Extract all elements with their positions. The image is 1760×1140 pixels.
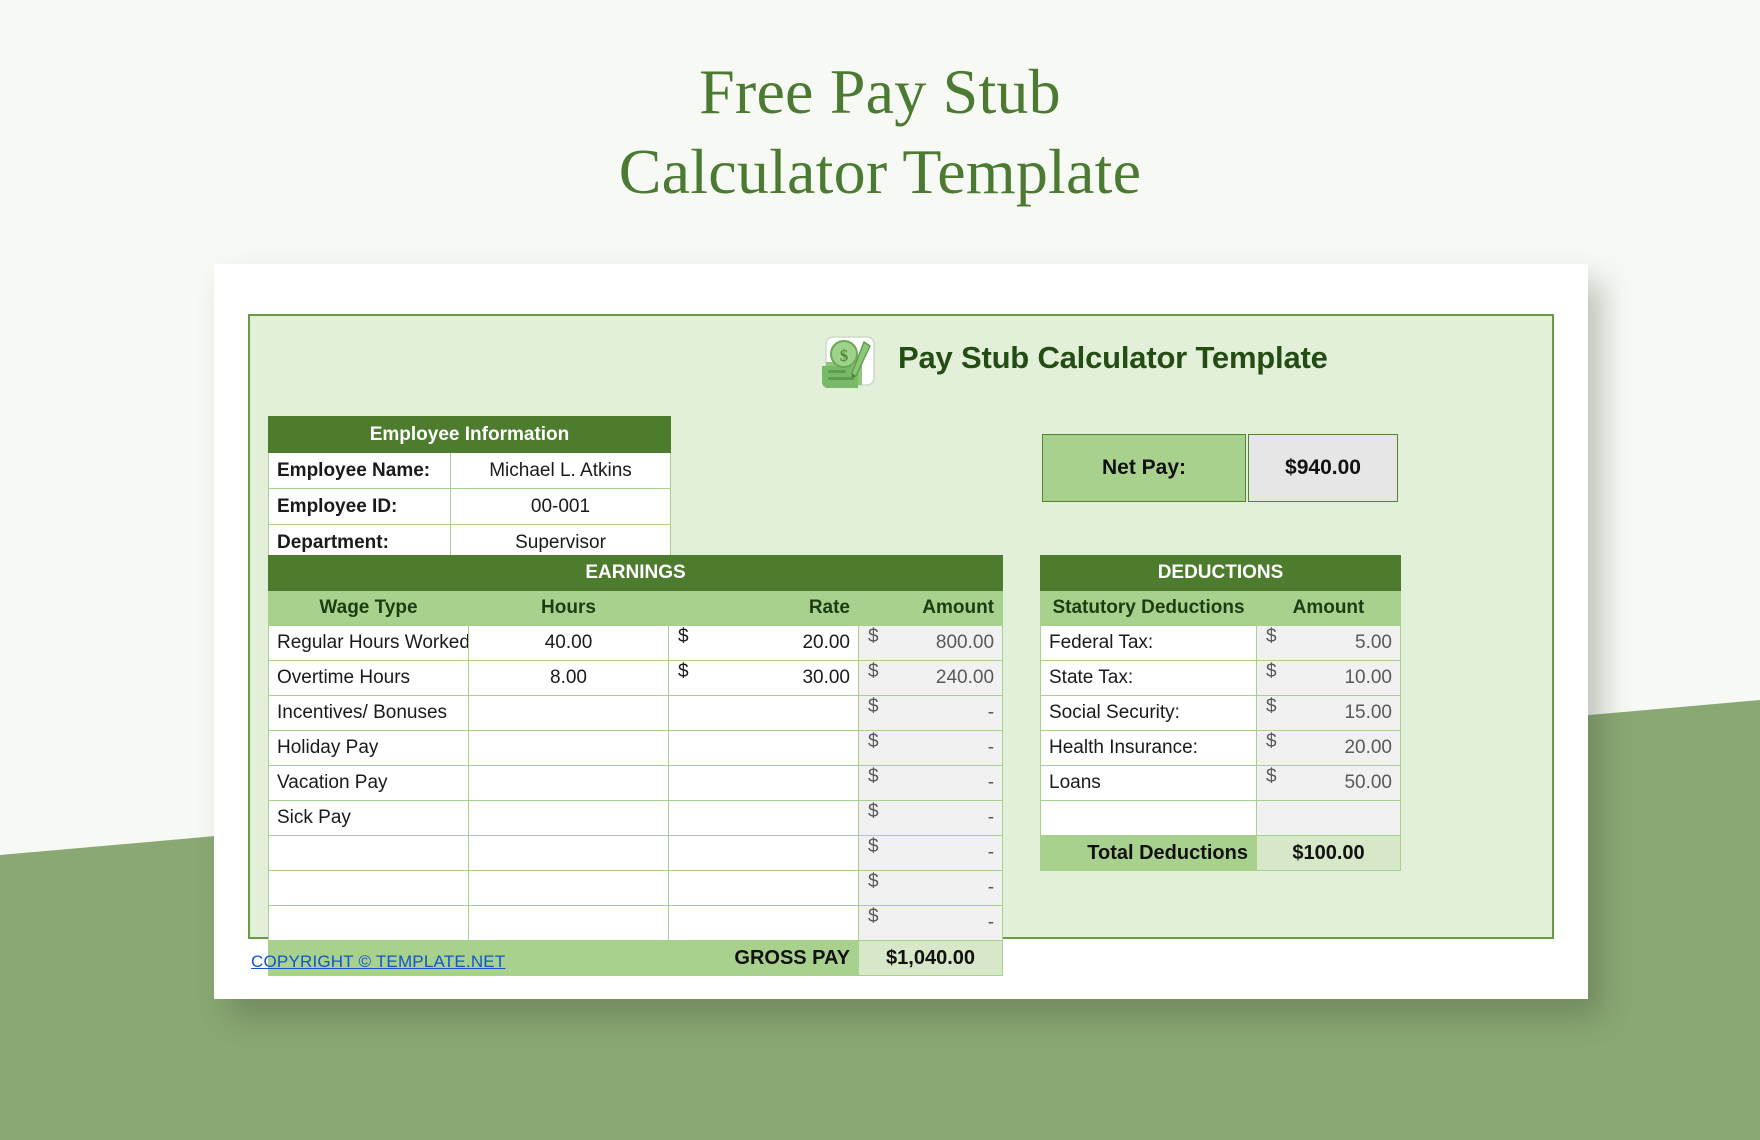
currency-symbol: $: [1266, 626, 1277, 648]
earnings-hours[interactable]: [469, 801, 669, 836]
earnings-amount-value: -: [988, 702, 994, 723]
earnings-wage-type[interactable]: Incentives/ Bonuses: [269, 696, 469, 731]
earnings-amount: $-: [859, 836, 1003, 871]
deduction-label[interactable]: [1041, 801, 1257, 836]
table-row: Social Security: $15.00: [1041, 696, 1401, 731]
table-row: Health Insurance: $20.00: [1041, 731, 1401, 766]
earnings-hours[interactable]: 8.00: [469, 661, 669, 696]
earnings-hours[interactable]: [469, 766, 669, 801]
table-row: [1041, 801, 1401, 836]
earnings-amount-value: -: [988, 807, 994, 828]
deduction-amount-value: 10.00: [1344, 667, 1392, 688]
table-row: $-: [269, 871, 1003, 906]
currency-symbol: $: [678, 626, 689, 648]
currency-symbol: $: [1266, 766, 1277, 788]
deduction-amount-value: 5.00: [1355, 632, 1392, 653]
earnings-amount-value: -: [988, 737, 994, 758]
deduction-amount[interactable]: [1257, 801, 1401, 836]
earnings-hours[interactable]: [469, 696, 669, 731]
earnings-amount: $-: [859, 766, 1003, 801]
page-title-line-1: Free Pay Stub: [0, 52, 1760, 132]
table-row: Employee ID: 00-001: [269, 489, 671, 525]
earnings-amount-value: -: [988, 772, 994, 793]
deduction-label: State Tax:: [1041, 661, 1257, 696]
earnings-rate-value: 20.00: [802, 632, 850, 653]
earnings-wage-type[interactable]: [269, 906, 469, 941]
earnings-amount: $-: [859, 696, 1003, 731]
table-header-row: Employee Information: [269, 417, 671, 453]
currency-symbol: $: [1266, 696, 1277, 718]
table-column-header-row: Wage Type Hours Rate Amount: [269, 591, 1003, 626]
deductions-table: DEDUCTIONS Statutory Deductions Amount F…: [1040, 555, 1401, 871]
employee-name-label: Employee Name:: [269, 453, 451, 489]
earnings-hours[interactable]: [469, 871, 669, 906]
table-row: Employee Name: Michael L. Atkins: [269, 453, 671, 489]
table-header-row: DEDUCTIONS: [1041, 556, 1401, 591]
net-pay-row: Net Pay: $940.00: [1042, 434, 1398, 502]
deduction-amount[interactable]: $20.00: [1257, 731, 1401, 766]
earnings-wage-type[interactable]: Holiday Pay: [269, 731, 469, 766]
table-row: Loans $50.00: [1041, 766, 1401, 801]
spreadsheet-panel: $ Pay Stub Calculator Template Employee …: [248, 314, 1554, 939]
deduction-label: Health Insurance:: [1041, 731, 1257, 766]
deductions-header: DEDUCTIONS: [1041, 556, 1401, 591]
deduction-amount-value: 50.00: [1344, 772, 1392, 793]
earnings-rate[interactable]: [669, 871, 859, 906]
currency-symbol: $: [1266, 661, 1277, 683]
table-column-header-row: Statutory Deductions Amount: [1041, 591, 1401, 626]
earnings-amount: $-: [859, 801, 1003, 836]
earnings-rate[interactable]: $20.00: [669, 626, 859, 661]
earnings-wage-type[interactable]: Overtime Hours: [269, 661, 469, 696]
gross-pay-value: $1,040.00: [859, 941, 1003, 976]
table-row: Sick Pay $-: [269, 801, 1003, 836]
currency-symbol: $: [868, 836, 879, 858]
sheet-header: $ Pay Stub Calculator Template: [250, 324, 1552, 394]
table-row: $-: [269, 836, 1003, 871]
earnings-wage-type[interactable]: Regular Hours Worked: [269, 626, 469, 661]
deduction-amount[interactable]: $5.00: [1257, 626, 1401, 661]
currency-symbol: $: [678, 661, 689, 683]
net-pay-value: $940.00: [1248, 434, 1398, 502]
earnings-hours[interactable]: [469, 731, 669, 766]
svg-text:$: $: [840, 346, 849, 365]
earnings-rate[interactable]: [669, 801, 859, 836]
earnings-amount-value: 800.00: [936, 632, 994, 653]
earnings-amount-value: -: [988, 842, 994, 863]
deduction-amount-value: 15.00: [1344, 702, 1392, 723]
earnings-amount: $800.00: [859, 626, 1003, 661]
earnings-wage-type[interactable]: [269, 871, 469, 906]
column-header-hours: Hours: [469, 591, 669, 626]
employee-information-header: Employee Information: [269, 417, 671, 453]
currency-symbol: $: [868, 801, 879, 823]
table-row: Incentives/ Bonuses $-: [269, 696, 1003, 731]
currency-symbol: $: [868, 696, 879, 718]
employee-name-value[interactable]: Michael L. Atkins: [451, 453, 671, 489]
column-header-rate: Rate: [669, 591, 859, 626]
employee-id-value[interactable]: 00-001: [451, 489, 671, 525]
column-header-amount: Amount: [859, 591, 1003, 626]
earnings-amount-value: -: [988, 877, 994, 898]
currency-symbol: $: [868, 906, 879, 928]
earnings-amount: $240.00: [859, 661, 1003, 696]
net-pay-label: Net Pay:: [1042, 434, 1246, 502]
column-header-deduction-amount: Amount: [1257, 591, 1401, 626]
earnings-wage-type[interactable]: [269, 836, 469, 871]
deduction-amount[interactable]: $10.00: [1257, 661, 1401, 696]
currency-symbol: $: [868, 766, 879, 788]
earnings-rate-value: 30.00: [802, 667, 850, 688]
currency-symbol: $: [868, 626, 879, 648]
currency-symbol: $: [868, 731, 879, 753]
earnings-amount: $-: [859, 871, 1003, 906]
earnings-table: EARNINGS Wage Type Hours Rate Amount Reg…: [268, 555, 1003, 976]
employee-id-label: Employee ID:: [269, 489, 451, 525]
net-pay-box: Net Pay: $940.00: [1040, 432, 1400, 504]
earnings-amount-value: 240.00: [936, 667, 994, 688]
earnings-amount-value: -: [988, 912, 994, 933]
sheet-title: Pay Stub Calculator Template: [898, 340, 1328, 376]
deduction-label: Federal Tax:: [1041, 626, 1257, 661]
page-title: Free Pay Stub Calculator Template: [0, 52, 1760, 212]
earnings-rate[interactable]: [669, 731, 859, 766]
table-row: Holiday Pay $-: [269, 731, 1003, 766]
total-deductions-label: Total Deductions: [1041, 836, 1257, 871]
table-row: Regular Hours Worked 40.00 $20.00 $800.0…: [269, 626, 1003, 661]
table-row: Vacation Pay $-: [269, 766, 1003, 801]
page-title-line-2: Calculator Template: [0, 132, 1760, 212]
deduction-amount[interactable]: $50.00: [1257, 766, 1401, 801]
deduction-label: Social Security:: [1041, 696, 1257, 731]
earnings-rate[interactable]: [669, 696, 859, 731]
deduction-label: Loans: [1041, 766, 1257, 801]
column-header-wage-type: Wage Type: [269, 591, 469, 626]
earnings-amount: $-: [859, 731, 1003, 766]
earnings-rate[interactable]: [669, 836, 859, 871]
table-row: Overtime Hours 8.00 $30.00 $240.00: [269, 661, 1003, 696]
deduction-amount[interactable]: $15.00: [1257, 696, 1401, 731]
earnings-rate[interactable]: $30.00: [669, 661, 859, 696]
currency-symbol: $: [868, 871, 879, 893]
deduction-amount-value: 20.00: [1344, 737, 1392, 758]
currency-symbol: $: [1266, 731, 1277, 753]
column-header-statutory-deductions: Statutory Deductions: [1041, 591, 1257, 626]
earnings-rate[interactable]: [669, 906, 859, 941]
total-deductions-value: $100.00: [1257, 836, 1401, 871]
table-row: State Tax: $10.00: [1041, 661, 1401, 696]
document-card: $ Pay Stub Calculator Template Employee …: [214, 264, 1588, 999]
earnings-rate[interactable]: [669, 766, 859, 801]
currency-symbol: $: [868, 661, 879, 683]
employee-information-table: Employee Information Employee Name: Mich…: [268, 416, 671, 561]
total-deductions-row: Total Deductions $100.00: [1041, 836, 1401, 871]
earnings-amount: $-: [859, 906, 1003, 941]
table-row: Federal Tax: $5.00: [1041, 626, 1401, 661]
earnings-hours[interactable]: [469, 906, 669, 941]
checkbook-money-icon: $: [816, 332, 880, 392]
earnings-header: EARNINGS: [269, 556, 1003, 591]
earnings-hours[interactable]: 40.00: [469, 626, 669, 661]
table-row: $-: [269, 906, 1003, 941]
copyright-link[interactable]: COPYRIGHT © TEMPLATE.NET: [251, 952, 505, 972]
earnings-hours[interactable]: [469, 836, 669, 871]
earnings-wage-type[interactable]: Vacation Pay: [269, 766, 469, 801]
earnings-wage-type[interactable]: Sick Pay: [269, 801, 469, 836]
table-header-row: EARNINGS: [269, 556, 1003, 591]
